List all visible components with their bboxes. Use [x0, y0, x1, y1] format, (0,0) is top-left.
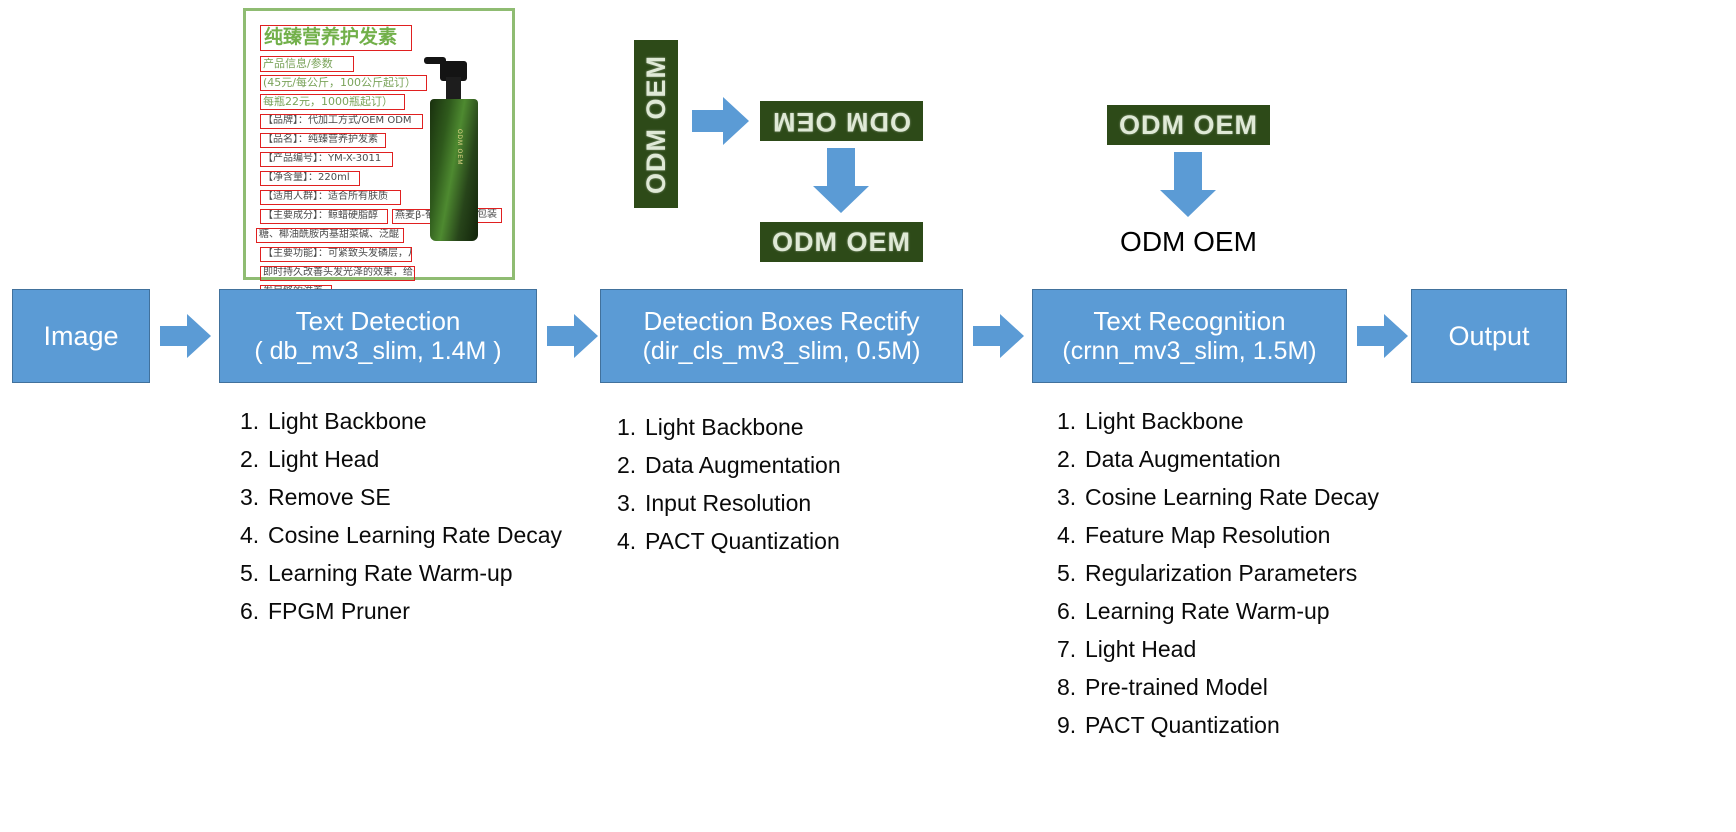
rectify-output-crop-text: ODM OEM	[772, 227, 911, 258]
arrow-down-recognition	[1159, 152, 1217, 218]
feature-recognition-item-number: 4.	[1057, 516, 1085, 554]
feature-detection-item: 2.Light Head	[240, 440, 562, 478]
pipeline-stage-detection-title: Text Detection	[296, 307, 461, 336]
feature-recognition-item: 6.Learning Rate Warm-up	[1057, 592, 1379, 630]
feature-recognition-item-label: Pre-trained Model	[1085, 668, 1268, 706]
arrow-right-image-to-detection	[160, 312, 212, 360]
feature-recognition-item-label: Regularization Parameters	[1085, 554, 1357, 592]
ocr-box-line-9: 【主要成分】：鲸蜡硬脂醇	[260, 209, 388, 224]
pipeline-stage-output-title: Output	[1448, 321, 1529, 351]
feature-detection-item: 5.Learning Rate Warm-up	[240, 554, 562, 592]
feature-rectify-item-label: PACT Quantization	[645, 522, 840, 560]
pipeline-stage-recognition-title: Text Recognition	[1093, 307, 1285, 336]
feature-detection-item-label: Light Backbone	[268, 402, 427, 440]
feature-recognition-item: 5.Regularization Parameters	[1057, 554, 1379, 592]
feature-recognition-item: 7.Light Head	[1057, 630, 1379, 668]
rectify-flipped-crop: ODM OEM	[760, 101, 923, 141]
recognition-input-crop-text: ODM OEM	[1119, 110, 1258, 141]
arrow-right-rectify-to-recognition	[973, 312, 1025, 360]
feature-detection-item-number: 1.	[240, 402, 268, 440]
feature-detection-item-number: 5.	[240, 554, 268, 592]
feature-recognition-item-label: Learning Rate Warm-up	[1085, 592, 1330, 630]
arrow-down-rectify	[812, 148, 870, 214]
feature-detection-item: 3.Remove SE	[240, 478, 562, 516]
rectify-flipped-crop-text: ODM OEM	[772, 106, 911, 137]
pipeline-stage-rectify-model: (dir_cls_mv3_slim, 0.5M)	[643, 337, 921, 365]
rectify-input-vertical-crop-text: ODM OEM	[641, 55, 672, 194]
feature-recognition-item-label: Cosine Learning Rate Decay	[1085, 478, 1379, 516]
arrow-right-rectify-input	[692, 95, 750, 147]
ocr-box-line-3: 每瓶22元，1000瓶起订）	[260, 94, 405, 110]
feature-rectify-item-number: 2.	[617, 446, 645, 484]
feature-detection-item-number: 2.	[240, 440, 268, 478]
pipeline-stage-image[interactable]: Image	[12, 289, 150, 383]
ocr-box-line-4: 【品牌】：代加工方式/OEM ODM	[260, 114, 423, 129]
ocr-box-line-8: 【适用人群】：适合所有肤质	[260, 190, 401, 205]
feature-list-detection: 1.Light Backbone2.Light Head3.Remove SE4…	[240, 402, 562, 630]
feature-recognition-item: 2.Data Augmentation	[1057, 440, 1379, 478]
feature-rectify-item: 1.Light Backbone	[617, 408, 841, 446]
feature-recognition-item-label: Data Augmentation	[1085, 440, 1281, 478]
pipeline-stage-recognition[interactable]: Text Recognition (crnn_mv3_slim, 1.5M)	[1032, 289, 1347, 383]
feature-rectify-item-number: 3.	[617, 484, 645, 522]
feature-rectify-item-label: Input Resolution	[645, 484, 811, 522]
feature-list-recognition: 1.Light Backbone2.Data Augmentation3.Cos…	[1057, 402, 1379, 744]
pipeline-stage-rectify-title: Detection Boxes Rectify	[643, 307, 919, 336]
feature-detection-item-number: 6.	[240, 592, 268, 630]
pipeline-stage-image-title: Image	[43, 321, 118, 351]
pipeline-stage-recognition-model: (crnn_mv3_slim, 1.5M)	[1062, 337, 1316, 365]
feature-detection-item: 4.Cosine Learning Rate Decay	[240, 516, 562, 554]
feature-recognition-item: 8.Pre-trained Model	[1057, 668, 1379, 706]
recognition-output-text: ODM OEM	[1107, 222, 1270, 262]
feature-list-rectify: 1.Light Backbone2.Data Augmentation3.Inp…	[617, 408, 841, 560]
pipeline-stage-output[interactable]: Output	[1411, 289, 1567, 383]
ocr-box-line-2: (45元/每公斤，100公斤起订）	[260, 75, 427, 91]
feature-rectify-item: 4.PACT Quantization	[617, 522, 841, 560]
feature-recognition-item-number: 1.	[1057, 402, 1085, 440]
pipeline-stage-detection[interactable]: Text Detection ( db_mv3_slim, 1.4M )	[219, 289, 537, 383]
feature-recognition-item: 4.Feature Map Resolution	[1057, 516, 1379, 554]
feature-recognition-item-label: PACT Quantization	[1085, 706, 1280, 744]
feature-recognition-item: 3.Cosine Learning Rate Decay	[1057, 478, 1379, 516]
feature-detection-item-label: Light Head	[268, 440, 379, 478]
feature-recognition-item-number: 2.	[1057, 440, 1085, 478]
feature-detection-item: 1.Light Backbone	[240, 402, 562, 440]
rectify-input-vertical-crop: ODM OEM	[634, 40, 678, 208]
feature-recognition-item-number: 7.	[1057, 630, 1085, 668]
feature-detection-item-label: Learning Rate Warm-up	[268, 554, 513, 592]
product-bottle-illustration: ODM OEM	[424, 51, 484, 241]
ocr-box-line-13: 即时持久改善头发光泽的效果，给干燥的头	[260, 266, 415, 281]
bottle-neck	[446, 77, 461, 101]
ocr-box-line-7: 【净含量】：220ml	[260, 171, 360, 186]
recognition-input-crop: ODM OEM	[1107, 105, 1270, 145]
pipeline-stage-rectify[interactable]: Detection Boxes Rectify (dir_cls_mv3_sli…	[600, 289, 963, 383]
feature-recognition-item-number: 6.	[1057, 592, 1085, 630]
ocr-box-line-6: 【产品编号】：YM-X-3011	[260, 152, 393, 167]
pipeline-stage-detection-model: ( db_mv3_slim, 1.4M )	[254, 337, 501, 365]
feature-rectify-item-label: Data Augmentation	[645, 446, 841, 484]
feature-recognition-item-number: 9.	[1057, 706, 1085, 744]
feature-recognition-item-label: Light Backbone	[1085, 402, 1244, 440]
arrow-right-detection-to-rectify	[547, 312, 599, 360]
feature-rectify-item: 2.Data Augmentation	[617, 446, 841, 484]
feature-rectify-item-number: 4.	[617, 522, 645, 560]
feature-recognition-item: 9.PACT Quantization	[1057, 706, 1379, 744]
bottle-label-text: ODM OEM	[446, 129, 462, 179]
feature-recognition-item: 1.Light Backbone	[1057, 402, 1379, 440]
feature-recognition-item-number: 8.	[1057, 668, 1085, 706]
feature-detection-item-label: FPGM Pruner	[268, 592, 410, 630]
feature-detection-item-number: 3.	[240, 478, 268, 516]
feature-rectify-item-label: Light Backbone	[645, 408, 804, 446]
feature-detection-item-label: Remove SE	[268, 478, 391, 516]
ocr-box-title: 纯臻营养护发素	[260, 25, 412, 51]
arrow-right-recognition-to-output	[1357, 312, 1409, 360]
feature-rectify-item: 3.Input Resolution	[617, 484, 841, 522]
feature-detection-item-label: Cosine Learning Rate Decay	[268, 516, 562, 554]
feature-recognition-item-number: 3.	[1057, 478, 1085, 516]
rectify-output-crop: ODM OEM	[760, 222, 923, 262]
feature-recognition-item-number: 5.	[1057, 554, 1085, 592]
ocr-box-line-1: 产品信息/参数	[260, 56, 354, 72]
ocr-box-line-12: 【主要功能】：可紧致头发磷层，从而达到	[260, 247, 412, 262]
feature-detection-item-number: 4.	[240, 516, 268, 554]
feature-recognition-item-label: Feature Map Resolution	[1085, 516, 1330, 554]
ocr-box-line-5: 【品名】：纯臻营养护发素	[260, 133, 386, 148]
sample-product-image: 纯臻营养护发素 产品信息/参数 (45元/每公斤，100公斤起订） 每瓶22元，…	[243, 8, 515, 280]
feature-rectify-item-number: 1.	[617, 408, 645, 446]
feature-detection-item: 6.FPGM Pruner	[240, 592, 562, 630]
feature-recognition-item-label: Light Head	[1085, 630, 1196, 668]
ocr-box-line-11: 糖、椰油酰胺丙基甜菜碱、泛醌	[256, 228, 404, 243]
